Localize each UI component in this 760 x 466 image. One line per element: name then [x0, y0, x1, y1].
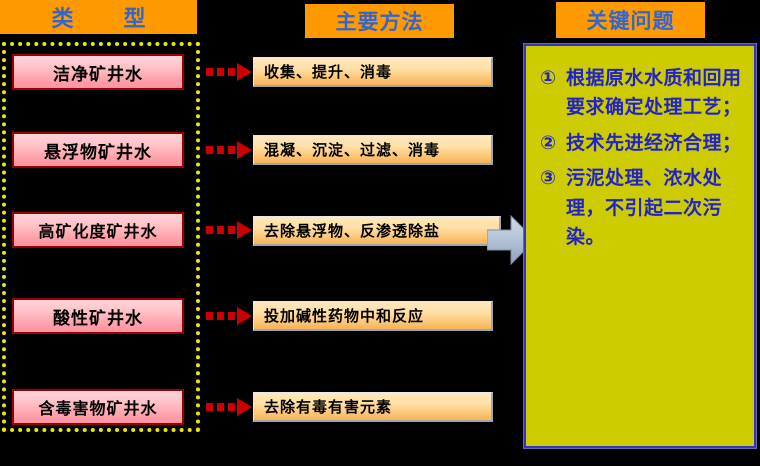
red-dotted-arrow-2: [206, 141, 252, 159]
red-dotted-arrow-1: [206, 63, 252, 81]
method-box-1[interactable]: 收集、提升、消毒: [253, 57, 493, 87]
key-issue-item-1: ① 根据原水水质和回用要求确定处理工艺；: [540, 64, 744, 123]
method-box-4[interactable]: 投加碱性药物中和反应: [253, 301, 493, 331]
method-box-5-label: 去除有毒有害元素: [264, 396, 392, 417]
header-type: 类 型: [0, 0, 197, 34]
header-method: 主要方法: [305, 4, 454, 38]
key-issue-item-3: ③ 污泥处理、浓水处理，不引起二次污染。: [540, 164, 744, 252]
method-box-5[interactable]: 去除有毒有害元素: [253, 392, 493, 422]
key-issue-2-number: ②: [540, 129, 566, 158]
red-dotted-arrow-4: [206, 307, 252, 325]
key-issue-1-text: 根据原水水质和回用要求确定处理工艺；: [566, 64, 744, 123]
key-issue-3-text: 污泥处理、浓水处理，不引起二次污染。: [566, 164, 744, 252]
red-dotted-arrow-3: [206, 221, 252, 239]
key-issue-1-number: ①: [540, 64, 566, 93]
method-box-4-label: 投加碱性药物中和反应: [264, 305, 424, 326]
method-box-3[interactable]: 去除悬浮物、反渗透除盐: [253, 216, 501, 246]
type-box-5[interactable]: 含毒害物矿井水: [12, 389, 184, 425]
type-box-3-label: 高矿化度矿井水: [38, 218, 157, 242]
type-box-1-label: 洁净矿井水: [53, 60, 143, 85]
method-box-2-label: 混凝、沉淀、过滤、消毒: [264, 139, 440, 160]
type-box-4-label: 酸性矿井水: [53, 304, 143, 329]
method-box-2[interactable]: 混凝、沉淀、过滤、消毒: [253, 135, 493, 165]
diagram-canvas: 类 型 主要方法 关键问题 洁净矿井水 悬浮物矿井水 高矿化度矿井水 酸性矿井水…: [0, 0, 760, 466]
type-box-3[interactable]: 高矿化度矿井水: [12, 212, 184, 248]
key-issue-item-2: ② 技术先进经济合理；: [540, 129, 744, 158]
type-box-2-label: 悬浮物矿井水: [44, 138, 152, 163]
key-issue-panel: ① 根据原水水质和回用要求确定处理工艺； ② 技术先进经济合理； ③ 污泥处理、…: [524, 44, 756, 448]
method-box-1-label: 收集、提升、消毒: [264, 61, 392, 82]
header-key-issue: 关键问题: [556, 2, 705, 38]
key-issue-2-text: 技术先进经济合理；: [566, 129, 744, 158]
type-box-5-label: 含毒害物矿井水: [38, 395, 157, 419]
type-box-4[interactable]: 酸性矿井水: [12, 298, 184, 334]
red-dotted-arrow-5: [206, 398, 252, 416]
type-box-2[interactable]: 悬浮物矿井水: [12, 132, 184, 168]
method-box-3-label: 去除悬浮物、反渗透除盐: [264, 220, 440, 241]
type-box-1[interactable]: 洁净矿井水: [12, 54, 184, 90]
key-issue-3-number: ③: [540, 164, 566, 193]
